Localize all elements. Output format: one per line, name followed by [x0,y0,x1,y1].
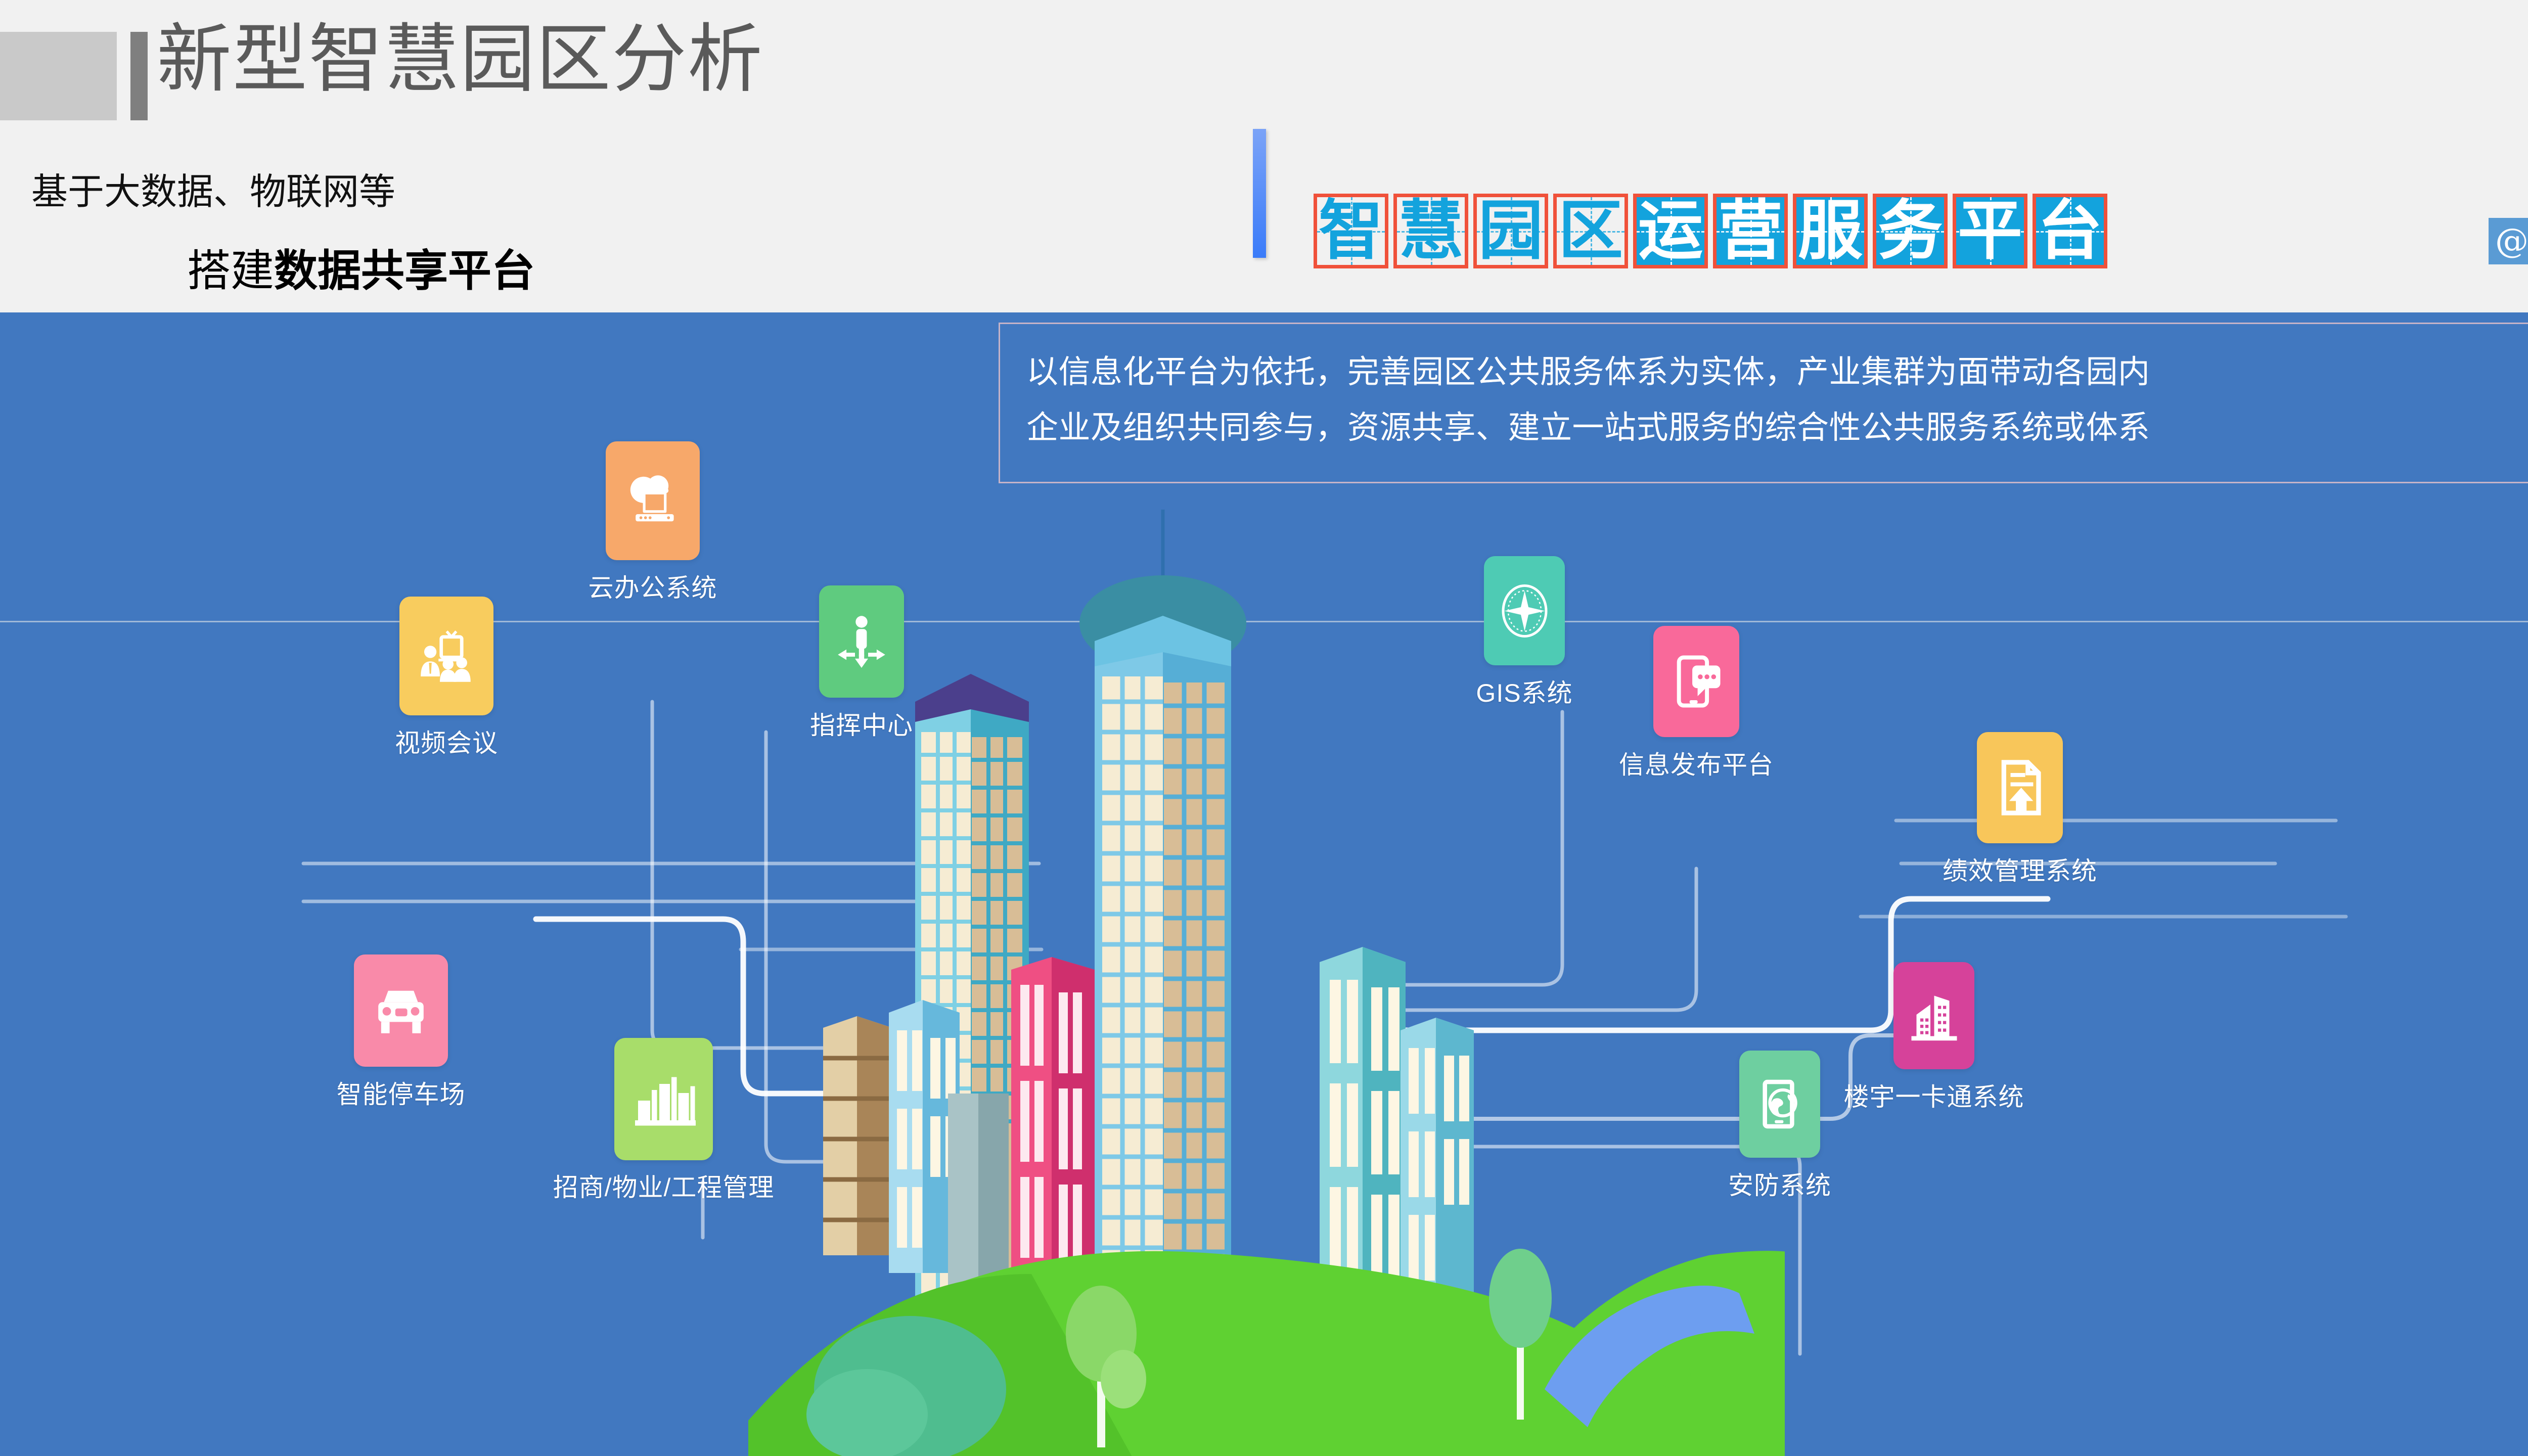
node-command-center[interactable]: 指挥中心 [819,585,904,698]
subtitle-secondary-bold: 数据共享平台 [274,247,535,295]
node-building-card[interactable]: 楼宇一卡通系统 [1893,962,1974,1069]
banner-char-box: 台 [2033,194,2107,268]
cloud-office-tile[interactable] [606,441,700,560]
buildings-chart-icon [626,1061,702,1137]
banner-char-box: 园 [1473,194,1548,268]
banner-char-box: 区 [1553,194,1628,268]
building-card-label: 楼宇一卡通系统 [1844,1077,2024,1113]
compass-icon [1493,579,1556,643]
node-gis-system[interactable]: GIS系统 [1484,556,1565,665]
security-system-tile[interactable] [1739,1051,1820,1158]
subtitle-secondary-light: 搭建 [187,247,274,295]
node-property-mgmt[interactable]: 招商/物业/工程管理 [614,1038,713,1160]
banner-char-glyph: 运 [1638,199,1703,263]
page-title: 新型智慧园区分析 [157,19,763,100]
header-gray-block [0,32,117,120]
banner-char-glyph: 区 [1558,199,1623,263]
banner-char-glyph: 平 [1958,199,2022,263]
banner-char-glyph: 台 [2038,199,2102,263]
property-mgmt-label: 招商/物业/工程管理 [553,1167,775,1204]
command-center-label: 指挥中心 [810,705,913,742]
command-center-tile[interactable] [819,585,904,698]
banner-char-glyph: 营 [1718,199,1783,263]
person-directions-icon [829,609,894,674]
subtitle-primary: 基于大数据、物联网等 [31,162,395,215]
smart-parking-tile[interactable] [354,954,448,1067]
banner-char-glyph: 服 [1798,199,1863,263]
at-symbol-icon: @ [2489,218,2528,264]
banner-char-box: 服 [1793,194,1868,268]
banner-char-box: 慧 [1393,194,1468,268]
security-system-label: 安防系统 [1728,1165,1831,1202]
phone-message-icon [1663,648,1730,715]
two-buildings-icon [1903,984,1966,1048]
node-info-publish[interactable]: 信息发布平台 [1653,626,1739,737]
banner-char-glyph: 慧 [1398,199,1463,263]
smart-parking-label: 智能停车场 [337,1074,466,1111]
banner-char-box: 运 [1633,194,1708,268]
banner-char-glyph: 务 [1878,199,1943,263]
subtitle-secondary: 搭建数据共享平台 [187,235,535,298]
node-cloud-office[interactable]: 云办公系统 [606,441,700,560]
architecture-diagram: 云办公系统 [0,312,2528,1456]
cloud-laptop-icon [620,468,686,534]
node-smart-parking[interactable]: 智能停车场 [354,954,448,1067]
info-publish-tile[interactable] [1653,626,1739,737]
node-security-system[interactable]: 安防系统 [1739,1051,1820,1158]
gis-system-label: GIS系统 [1476,673,1572,709]
node-video-conference[interactable]: 视频会议 [399,597,493,715]
header-accent-bar [130,32,148,120]
property-mgmt-tile[interactable] [614,1038,713,1160]
main-content-region: 以信息化平台为依托，完善园区公共服务体系为实体，产业集群为面带动各园内 企业及组… [0,312,2528,1456]
banner-char-box: 务 [1873,194,1948,268]
banner-char-box: 营 [1713,194,1788,268]
building-card-tile[interactable] [1893,962,1974,1069]
slide-root: 新型智慧园区分析 基于大数据、物联网等 搭建数据共享平台 智 慧 [0,0,2528,1456]
video-conference-icon [413,622,481,690]
banner-title: 智 慧 园 区 [1314,194,2107,268]
performance-mgmt-tile[interactable] [1977,732,2063,843]
video-conference-tile[interactable] [399,597,493,715]
node-performance-mgmt[interactable]: 绩效管理系统 [1977,732,2063,843]
performance-mgmt-label: 绩效管理系统 [1943,851,2097,887]
banner-char-glyph: 园 [1478,199,1543,263]
blue-accent-bar-icon [1253,129,1266,258]
banner-char-box: 智 [1314,194,1388,268]
header-region: 新型智慧园区分析 基于大数据、物联网等 搭建数据共享平台 智 慧 [0,0,2528,312]
banner-char-glyph: 智 [1319,199,1383,263]
phone-globe-icon [1749,1073,1811,1135]
info-publish-label: 信息发布平台 [1619,745,1774,781]
document-arrow-up-icon [1987,754,2053,821]
banner-char-box: 平 [1953,194,2027,268]
video-conference-label: 视频会议 [395,723,498,759]
gis-system-tile[interactable] [1484,556,1565,665]
cloud-office-label: 云办公系统 [589,568,717,604]
car-icon [366,975,436,1046]
